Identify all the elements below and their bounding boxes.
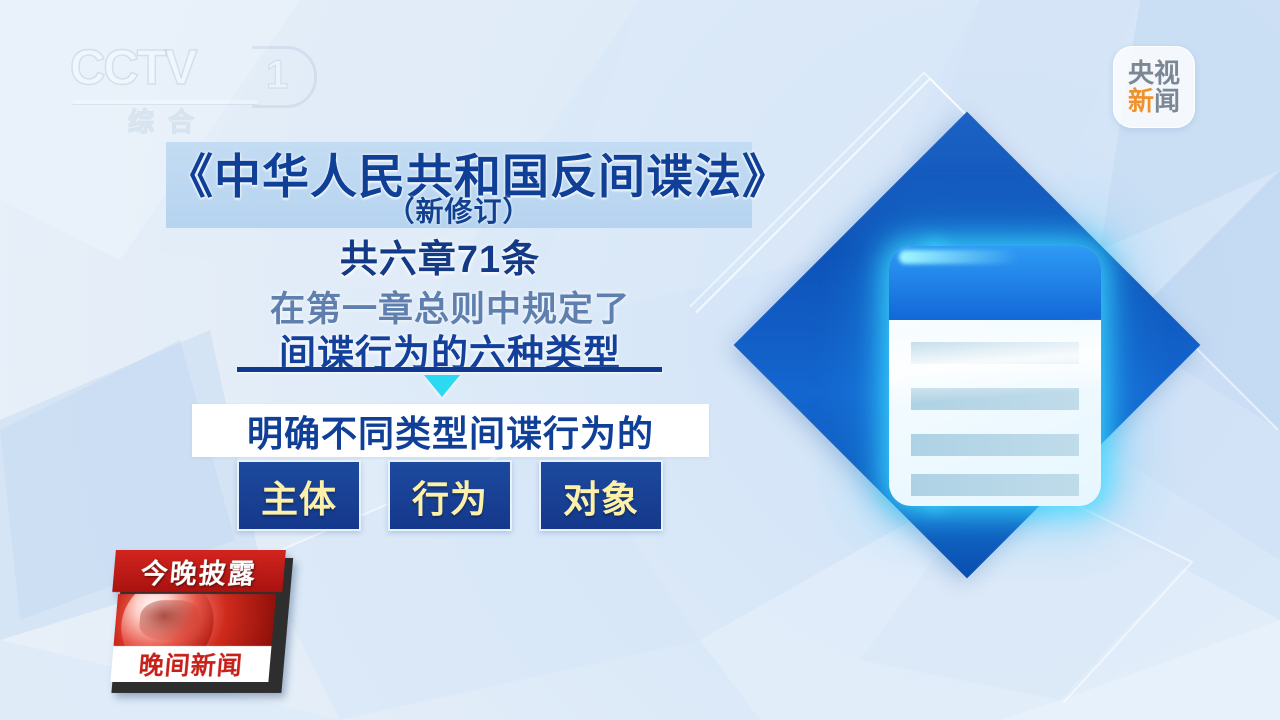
- news-badge-line1: 央视: [1128, 60, 1180, 87]
- keyword-label: 行为: [412, 469, 488, 523]
- document-text-line: [911, 434, 1079, 456]
- keyword-label: 对象: [563, 469, 639, 523]
- cctv1-channel-watermark: CCTV 1 综合: [70, 44, 300, 134]
- keyword-label: 主体: [261, 469, 337, 523]
- document-text-line: [911, 388, 1079, 410]
- keyword-box-conduct: 行为: [388, 460, 512, 531]
- news-badge-rest-char: 闻: [1154, 88, 1180, 115]
- keyword-box-row: 主体 行为 对象: [237, 460, 663, 531]
- document-highlight-glint: [899, 250, 1019, 264]
- cctv-channel-number: 1: [266, 53, 288, 98]
- document-text-line: [911, 342, 1079, 364]
- clarification-banner: 明确不同类型间谍行为的: [192, 404, 709, 457]
- keyword-box-subject: 主体: [237, 460, 361, 531]
- program-logo: 今晚披露 晚间新闻: [104, 550, 286, 685]
- program-logo-name-plate: 晚间新闻: [110, 646, 271, 682]
- program-logo-name: 晚间新闻: [137, 646, 244, 682]
- program-logo-top-banner: 今晚披露: [112, 550, 286, 592]
- globe-icon: [117, 594, 217, 646]
- broadcast-graphic-frame: CCTV 1 综合 央视 新 闻: [0, 0, 1280, 720]
- document-diamond-graphic: [742, 150, 1212, 670]
- law-title-band: 《中华人民共和国反间谍法》 （新修订）: [166, 142, 752, 228]
- program-logo-tagline: 今晚披露: [139, 552, 258, 591]
- section-divider: [237, 367, 662, 372]
- keyword-box-object: 对象: [539, 460, 663, 531]
- document-text-line: [911, 474, 1079, 496]
- program-logo-globe-panel: [114, 594, 277, 646]
- law-title-revision-note: （新修订）: [166, 190, 752, 230]
- news-badge-accent-char: 新: [1128, 88, 1154, 115]
- news-badge-line2: 新 闻: [1128, 88, 1180, 115]
- document-header-bar: [889, 246, 1101, 320]
- cctv-news-badge: 央视 新 闻: [1113, 46, 1195, 128]
- cctv-channel-sub-label: 综合: [128, 102, 208, 139]
- law-article-count: 共六章71条: [140, 228, 740, 283]
- clarification-banner-text: 明确不同类型间谍行为的: [247, 405, 654, 457]
- document-lines-icon: [889, 246, 1101, 506]
- triangle-down-icon: [424, 375, 460, 397]
- cctv-channel-number-badge: 1: [252, 46, 317, 108]
